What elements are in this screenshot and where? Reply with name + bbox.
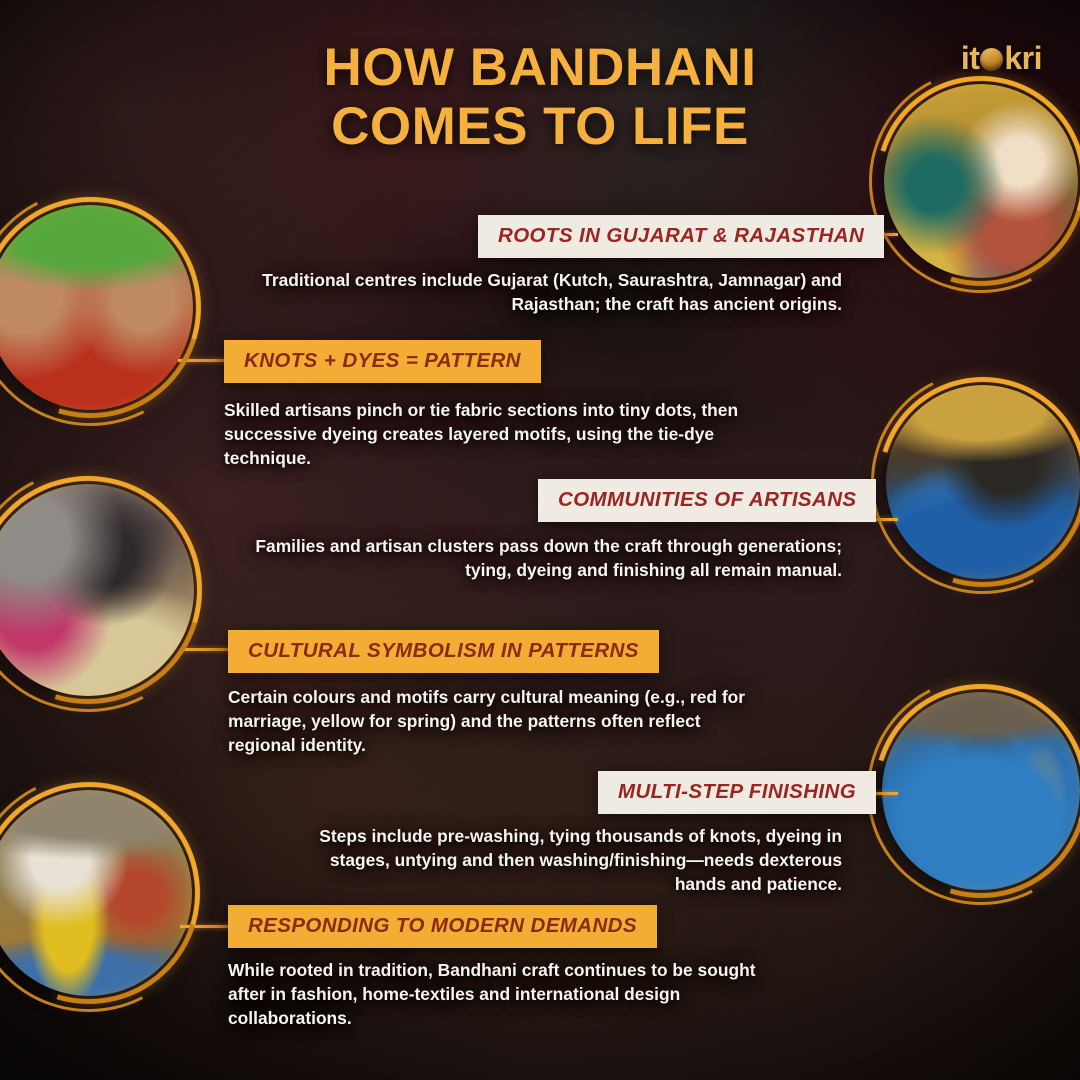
section-body-symbolism-text: Certain colours and motifs carry cultura…: [228, 687, 745, 755]
section-heading-modern: RESPONDING TO MODERN DEMANDS: [228, 905, 657, 948]
section-heading-modern-label: RESPONDING TO MODERN DEMANDS: [248, 914, 637, 937]
photo-hands-tying-red-cloth-image: [0, 205, 193, 410]
page-title: HOW BANDHANI COMES TO LIFE: [0, 38, 1080, 157]
connector-line-modern: [180, 925, 232, 928]
photo-dipping-bundles-blue-dye-image: [882, 692, 1080, 890]
section-heading-finishing: MULTI-STEP FINISHING: [598, 771, 876, 814]
photo-artisan-lifting-yellow-cloth: [0, 790, 192, 996]
photo-woman-tying-cream-cloth-image: [0, 484, 194, 696]
title-line-1: HOW BANDHANI: [0, 38, 1080, 97]
section-body-roots-text: Traditional centres include Gujarat (Kut…: [262, 270, 842, 314]
section-body-modern-text: While rooted in tradition, Bandhani craf…: [228, 960, 756, 1028]
section-body-modern: While rooted in tradition, Bandhani craf…: [228, 958, 776, 1030]
section-body-symbolism: Certain colours and motifs carry cultura…: [228, 685, 768, 757]
section-body-knots-text: Skilled artisans pinch or tie fabric sec…: [224, 400, 738, 468]
section-body-communities-text: Families and artisan clusters pass down …: [255, 536, 842, 580]
section-heading-roots-label: ROOTS IN GUJARAT & RAJASTHAN: [498, 224, 864, 247]
connector-line-symbolism: [182, 648, 230, 651]
title-line-2: COMES TO LIFE: [0, 97, 1080, 156]
photo-woman-tying-cream-cloth: [0, 484, 194, 696]
section-heading-knots: KNOTS + DYES = PATTERN: [224, 340, 541, 383]
connector-line-knots: [178, 359, 230, 362]
section-body-knots: Skilled artisans pinch or tie fabric sec…: [224, 398, 754, 470]
photo-hands-tying-red-cloth: [0, 205, 193, 410]
section-body-communities: Families and artisan clusters pass down …: [248, 534, 842, 582]
section-heading-communities: COMMUNITIES OF ARTISANS: [538, 479, 876, 522]
photo-artisan-lifting-yellow-cloth-image: [0, 790, 192, 996]
section-heading-roots: ROOTS IN GUJARAT & RAJASTHAN: [478, 215, 884, 258]
section-heading-symbolism: CULTURAL SYMBOLISM IN PATTERNS: [228, 630, 659, 673]
section-body-finishing: Steps include pre-washing, tying thousan…: [318, 824, 842, 896]
photo-artisan-dyeing-vat-image: [886, 385, 1080, 579]
section-heading-communities-label: COMMUNITIES OF ARTISANS: [558, 488, 856, 511]
section-heading-finishing-label: MULTI-STEP FINISHING: [618, 780, 856, 803]
logo-text-part-1: it: [961, 40, 980, 77]
section-heading-symbolism-label: CULTURAL SYMBOLISM IN PATTERNS: [248, 639, 639, 662]
logo-circle-o-icon: [980, 48, 1003, 71]
photo-dipping-bundles-blue-dye: [882, 692, 1080, 890]
photo-artisan-dyeing-vat: [886, 385, 1080, 579]
section-body-roots: Traditional centres include Gujarat (Kut…: [250, 268, 842, 316]
logo-text-part-2: kri: [1004, 40, 1042, 77]
itokri-logo[interactable]: it kri: [961, 40, 1042, 77]
section-heading-knots-label: KNOTS + DYES = PATTERN: [244, 349, 521, 372]
section-body-finishing-text: Steps include pre-washing, tying thousan…: [319, 826, 842, 894]
